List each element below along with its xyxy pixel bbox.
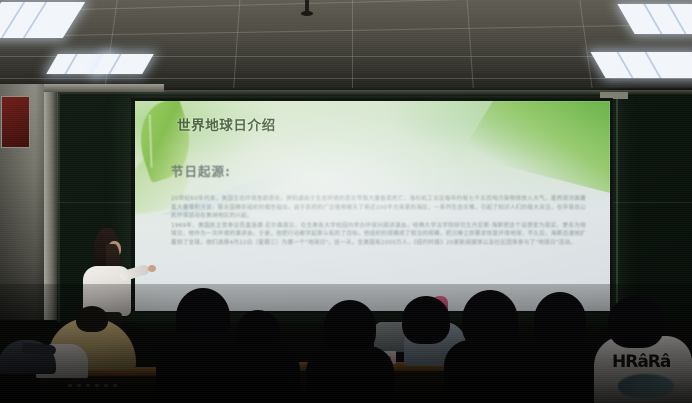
classroom-photo: 世界地球日介绍 节日起源: 20世纪60年代末，美国生态环境急剧恶化，伊利湖由于…: [0, 0, 692, 403]
ceiling-light-5: [590, 52, 692, 78]
student-body-2: [222, 344, 300, 403]
door-frame: [44, 84, 57, 320]
wall-poster: [1, 96, 30, 148]
slide-corner-graphic: [460, 101, 610, 193]
slide-title: 世界地球日介绍: [177, 114, 276, 134]
tshirt-print-text: HRâRâ: [612, 352, 670, 372]
projection-screen: 世界地球日介绍 节日起源: 20世纪60年代末，美国生态环境急剧恶化，伊利湖由于…: [135, 101, 610, 311]
presenter-hand: [148, 265, 156, 272]
slide-body-text: 20世纪60年代末，美国生态环境急剧恶化，伊利湖由于生态环境的恶化导致大量鱼类死…: [171, 195, 586, 249]
door-frame-header: [44, 84, 164, 92]
student-head-7: [608, 296, 664, 348]
ceiling: [0, 0, 692, 96]
slide-subtitle: 节日起源:: [171, 161, 231, 180]
slide-paragraph-1: 20世纪60年代末，美国生态环境急剧恶化，伊利湖由于生态环境的恶化导致大量鱼类死…: [171, 195, 586, 221]
student-body-4: [306, 346, 394, 403]
ceiling-hook: [305, 0, 309, 13]
student-tan-jacket-head: [76, 306, 108, 332]
student-head-3: [402, 296, 450, 344]
tshirt-logo-graphic: [618, 374, 674, 398]
desk-slat-group: [68, 384, 117, 387]
ceiling-tile-grid: [0, 0, 692, 96]
slide-paragraph-2: 1969年，美国民主党参议员盖洛德·尼尔森提议，在全美各大学校园内举办环保问题讲…: [171, 222, 586, 248]
